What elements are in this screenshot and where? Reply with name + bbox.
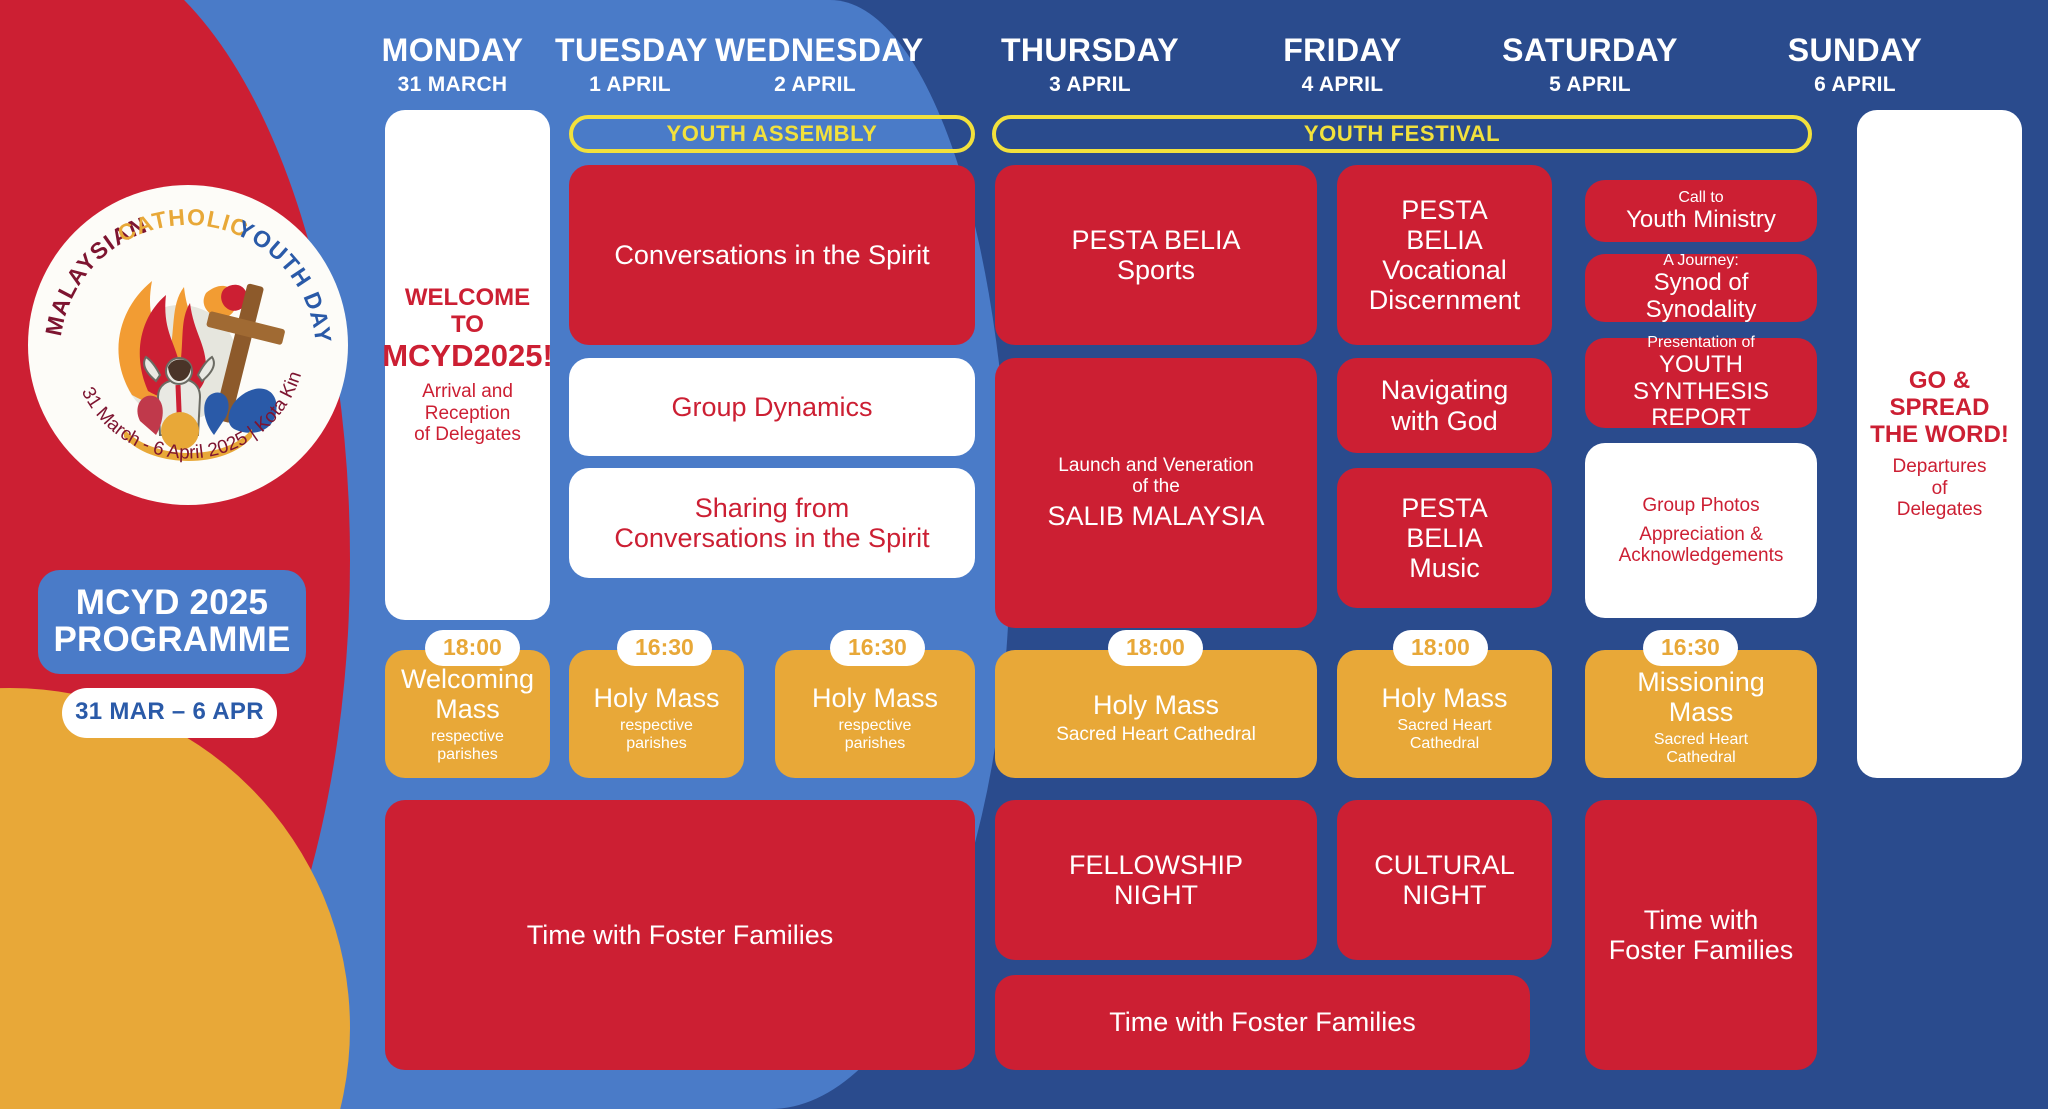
mon-mass-title1: Welcoming [401,664,534,694]
day-date-wednesday: 2 APRIL [715,73,915,97]
card-sharing-from-conversations: Sharing from Conversations in the Spirit [569,468,975,578]
time-chip-thursday-mass: 18:00 [1108,630,1203,666]
card-tuesday-holy-mass: Holy Mass respective parishes [569,650,744,778]
sunday-line1: GO & SPREAD [1869,368,2010,422]
fri-music-line1: PESTA [1401,493,1488,523]
sunday-line5: Delegates [1897,499,1983,520]
day-name-wednesday: WEDNESDAY [715,34,915,66]
day-name-thursday: THURSDAY [975,34,1205,66]
day-name-monday: MONDAY [375,34,530,66]
sat-photos-line1: Group Photos [1642,495,1759,516]
programme-title-badge: MCYD 2025 PROGRAMME [38,570,306,674]
mcyd-logo: MALAYSIAN CATHOLIC YOUTH DAY 2025 31 Mar… [28,185,348,505]
sunday-line4: of [1932,478,1948,499]
thu-sports-line1: PESTA BELIA [1071,225,1240,255]
day-name-tuesday: TUESDAY [555,34,705,66]
fri-music-line2: BELIA [1406,523,1483,553]
salib-line1: Launch and Veneration [1058,455,1253,476]
fri-voc-line1: PESTA [1401,195,1488,225]
sharing-line2: Conversations in the Spirit [614,523,929,553]
day-header-saturday: SATURDAY 5 APRIL [1470,0,1710,97]
fellowship-line2: NIGHT [1114,880,1198,910]
day-header-tuesday: TUESDAY 1 APRIL [555,0,705,97]
day-date-tuesday: 1 APRIL [555,73,705,97]
tue-mass-venue2: parishes [626,735,686,753]
wed-mass-venue2: parishes [845,735,905,753]
sidebar: MALAYSIAN CATHOLIC YOUTH DAY 2025 31 Mar… [0,0,345,1109]
card-thursday-holy-mass: Holy Mass Sacred Heart Cathedral [995,650,1317,778]
tue-mass-venue1: respective [620,717,693,735]
sat-synth-line2: YOUTH SYNTHESIS [1597,352,1805,406]
card-navigating-with-god: Navigating with God [1337,358,1552,453]
sat-mass-venue1: Sacred Heart [1654,731,1748,749]
card-fellowship-night: FELLOWSHIP NIGHT [995,800,1317,960]
fellowship-line1: FELLOWSHIP [1069,850,1243,880]
navigating-line1: Navigating [1381,375,1509,405]
cultural-line2: NIGHT [1403,880,1487,910]
foster-tue-wed-label: Time with Foster Families [527,920,834,950]
banner-youth-festival: YOUTH FESTIVAL [992,115,1812,153]
time-chip-friday-mass: 18:00 [1393,630,1488,666]
schedule-grid: MONDAY 31 MARCH TUESDAY 1 APRIL WEDNESDA… [375,0,2048,1109]
conversations-label: Conversations in the Spirit [614,240,929,270]
welcome-line1: WELCOME TO [397,285,538,339]
day-header-sunday: SUNDAY 6 APRIL [1755,0,1955,97]
card-wednesday-holy-mass: Holy Mass respective parishes [775,650,975,778]
card-friday-holy-mass: Holy Mass Sacred Heart Cathedral [1337,650,1552,778]
fri-music-line3: Music [1409,553,1480,583]
welcome-line3: Arrival and [422,381,513,402]
day-date-friday: 4 APRIL [1245,73,1440,97]
day-header-thursday: THURSDAY 3 APRIL [975,0,1205,97]
thu-mass-title: Holy Mass [1093,690,1219,720]
card-salib-malaysia: Launch and Veneration of the SALIB MALAY… [995,358,1317,628]
mon-mass-venue1: respective [431,728,504,746]
day-name-saturday: SATURDAY [1470,34,1710,66]
card-synod-of-synodality: A Journey: Synod of Synodality [1585,254,1817,322]
sat-photos-line2: Appreciation & [1639,524,1763,545]
day-date-thursday: 3 APRIL [975,73,1205,97]
card-call-to-youth-ministry: Call to Youth Ministry [1585,180,1817,242]
time-chip-tuesday-mass: 16:30 [617,630,712,666]
time-chip-saturday-mass: 16:30 [1643,630,1738,666]
wed-mass-title: Holy Mass [812,683,938,713]
day-date-monday: 31 MARCH [375,73,530,97]
sat-mass-venue2: Cathedral [1666,749,1735,767]
card-conversations-in-the-spirit: Conversations in the Spirit [569,165,975,345]
sat-call-line2: Youth Ministry [1626,207,1776,234]
salib-line3: SALIB MALAYSIA [1047,501,1264,531]
fri-mass-venue2: Cathedral [1410,735,1479,753]
sunday-line3: Departures [1893,456,1987,477]
card-pesta-belia-music: PESTA BELIA Music [1337,468,1552,608]
mon-mass-venue2: parishes [437,746,497,764]
fri-voc-line3: Vocational [1382,255,1507,285]
day-date-sunday: 6 APRIL [1755,73,1955,97]
day-name-sunday: SUNDAY [1755,34,1955,66]
foster-thu-label: Time with Foster Families [1109,1007,1416,1037]
foster-sat-line2: Foster Families [1609,935,1794,965]
sat-journey-line2: Synod of Synodality [1597,270,1805,324]
sat-synth-line1: Presentation of [1647,334,1755,352]
welcome-line2: MCYD2025! [382,339,553,374]
card-pesta-belia-sports: PESTA BELIA Sports [995,165,1317,345]
sat-synth-line3: REPORT [1651,405,1751,432]
card-group-dynamics: Group Dynamics [569,358,975,456]
day-header-wednesday: WEDNESDAY 2 APRIL [715,0,915,97]
sat-photos-line3: Acknowledgements [1619,545,1784,566]
sunday-line2: THE WORD! [1870,422,2009,449]
navigating-line2: with God [1391,406,1498,436]
card-sunday-go-and-spread: GO & SPREAD THE WORD! Departures of Dele… [1857,110,2022,778]
mcyd-programme-poster: MALAYSIAN CATHOLIC YOUTH DAY 2025 31 Mar… [0,0,2048,1109]
thu-sports-line2: Sports [1117,255,1195,285]
card-youth-synthesis-report: Presentation of YOUTH SYNTHESIS REPORT [1585,338,1817,428]
mcyd-logo-emblem-icon: MALAYSIAN CATHOLIC YOUTH DAY 2025 31 Mar… [28,185,348,505]
programme-title-line1: MCYD 2025 [48,584,296,621]
date-range-badge: 31 MAR – 6 APR [62,688,277,738]
welcome-line5: of Delegates [414,424,521,445]
sharing-line1: Sharing from [695,493,850,523]
time-chip-monday-mass: 18:00 [425,630,520,666]
tue-mass-title: Holy Mass [593,683,719,713]
programme-title-line2: PROGRAMME [48,621,296,658]
card-foster-families-thursday: Time with Foster Families [995,975,1530,1070]
sat-mass-title2: Mass [1669,697,1734,727]
card-foster-families-mon-wed: Time with Foster Families [385,800,975,1070]
card-foster-families-saturday: Time with Foster Families [1585,800,1817,1070]
day-date-saturday: 5 APRIL [1470,73,1710,97]
card-cultural-night: CULTURAL NIGHT [1337,800,1552,960]
salib-line2: of the [1132,476,1180,497]
time-chip-wednesday-mass: 16:30 [830,630,925,666]
fri-mass-title: Holy Mass [1381,683,1507,713]
mon-mass-title2: Mass [435,694,500,724]
banner-youth-assembly: YOUTH ASSEMBLY [569,115,975,153]
card-missioning-mass: Missioning Mass Sacred Heart Cathedral [1585,650,1817,778]
card-monday-welcoming-mass: Welcoming Mass respective parishes [385,650,550,778]
group-dynamics-label: Group Dynamics [671,392,872,422]
cultural-line1: CULTURAL [1374,850,1515,880]
fri-voc-line2: BELIA [1406,225,1483,255]
welcome-line4: Reception [425,403,511,424]
day-header-monday: MONDAY 31 MARCH [375,0,530,97]
card-group-photos-appreciation: Group Photos Appreciation & Acknowledgem… [1585,443,1817,618]
thu-mass-venue: Sacred Heart Cathedral [1056,724,1256,745]
day-name-friday: FRIDAY [1245,34,1440,66]
card-pesta-belia-vocational: PESTA BELIA Vocational Discernment [1337,165,1552,345]
day-header-friday: FRIDAY 4 APRIL [1245,0,1440,97]
sat-call-line1: Call to [1678,189,1723,207]
sat-journey-line1: A Journey: [1663,252,1739,270]
wed-mass-venue1: respective [839,717,912,735]
foster-sat-line1: Time with [1644,905,1759,935]
sat-mass-title1: Missioning [1637,667,1765,697]
card-monday-welcome: WELCOME TO MCYD2025! Arrival and Recepti… [385,110,550,620]
fri-voc-line4: Discernment [1369,285,1521,315]
fri-mass-venue1: Sacred Heart [1397,717,1491,735]
